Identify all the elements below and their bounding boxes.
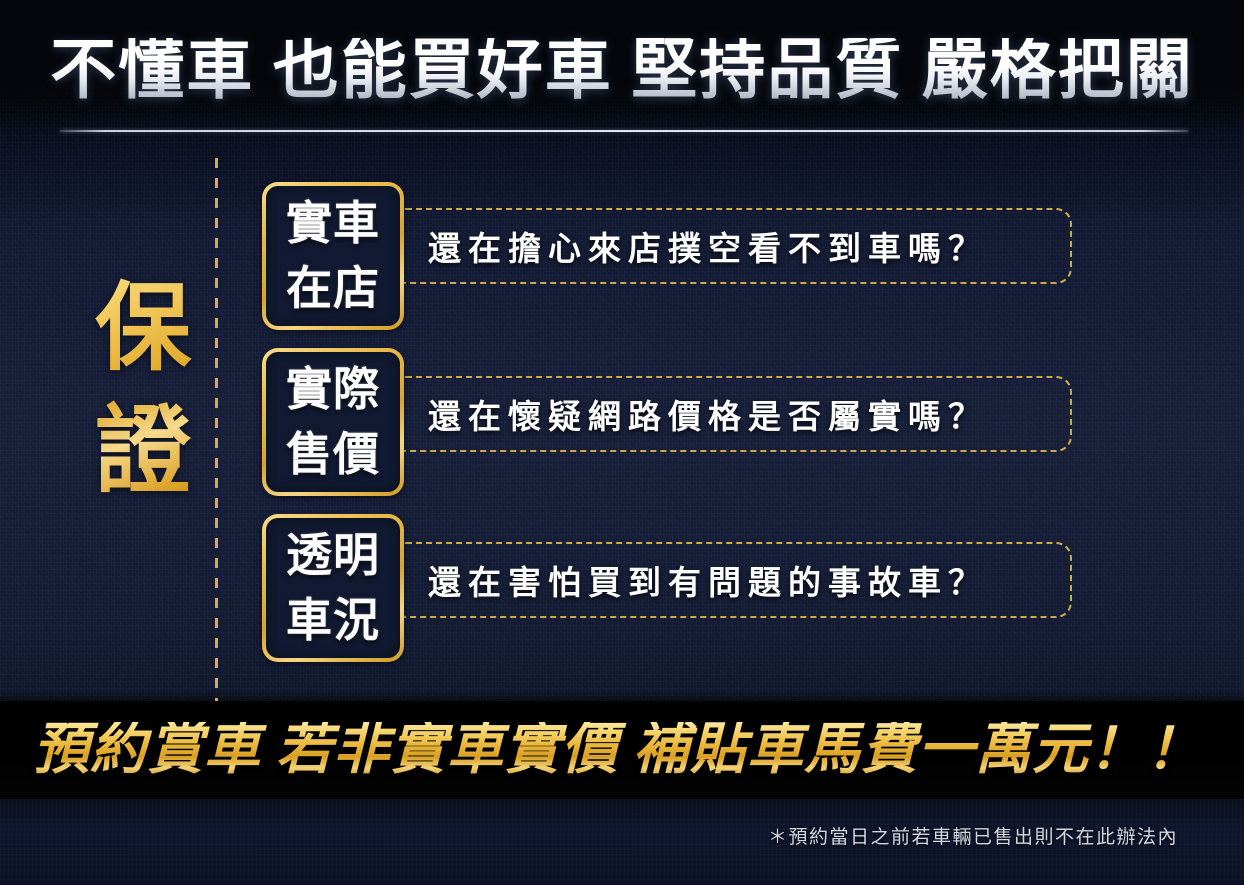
guarantee-label: 保證 [78,268,208,514]
feature-question-box-3: 還在害怕買到有問題的事故車？ [390,542,1072,618]
promo-poster: 不懂車 也能買好車 堅持品質 嚴格把關 不懂車 也能買好車 堅持品質 嚴格把關 … [0,0,1244,885]
vertical-dashed-connector [215,158,218,701]
feature-badge-line-1: 實際 [286,357,380,422]
feature-badge-3[interactable]: 透明 車況 [262,514,404,662]
feature-question-box-1: 還在擔心來店撲空看不到車嗎？ [390,208,1072,284]
promo-banner: 預約賞車 若非實車實價 補貼車馬費一萬元！！ [0,701,1244,799]
header-divider [60,130,1188,132]
feature-badge-line-2: 車況 [286,588,380,653]
feature-question-box-2: 還在懷疑網路價格是否屬實嗎？ [390,376,1072,452]
feature-question-text-2: 還在懷疑網路價格是否屬實嗎？ [428,390,988,438]
feature-badge-line-2: 在店 [286,256,380,321]
feature-badge-line-1: 透明 [286,523,380,588]
feature-badge-line-2: 售價 [286,422,380,487]
footnote-text: ＊預約當日之前若車輛已售出則不在此辦法內 [768,822,1178,849]
promo-banner-text: 預約賞車 若非實車實價 補貼車馬費一萬元！！ [33,722,1203,778]
feature-question-text-3: 還在害怕買到有問題的事故車？ [428,556,988,604]
feature-badge-2[interactable]: 實際 售價 [262,348,404,496]
feature-badge-line-1: 實車 [286,191,380,256]
feature-question-text-1: 還在擔心來店撲空看不到車嗎？ [428,222,988,270]
feature-badge-1[interactable]: 實車 在店 [262,182,404,330]
page-title: 不懂車 也能買好車 堅持品質 嚴格把關 [0,38,1244,104]
